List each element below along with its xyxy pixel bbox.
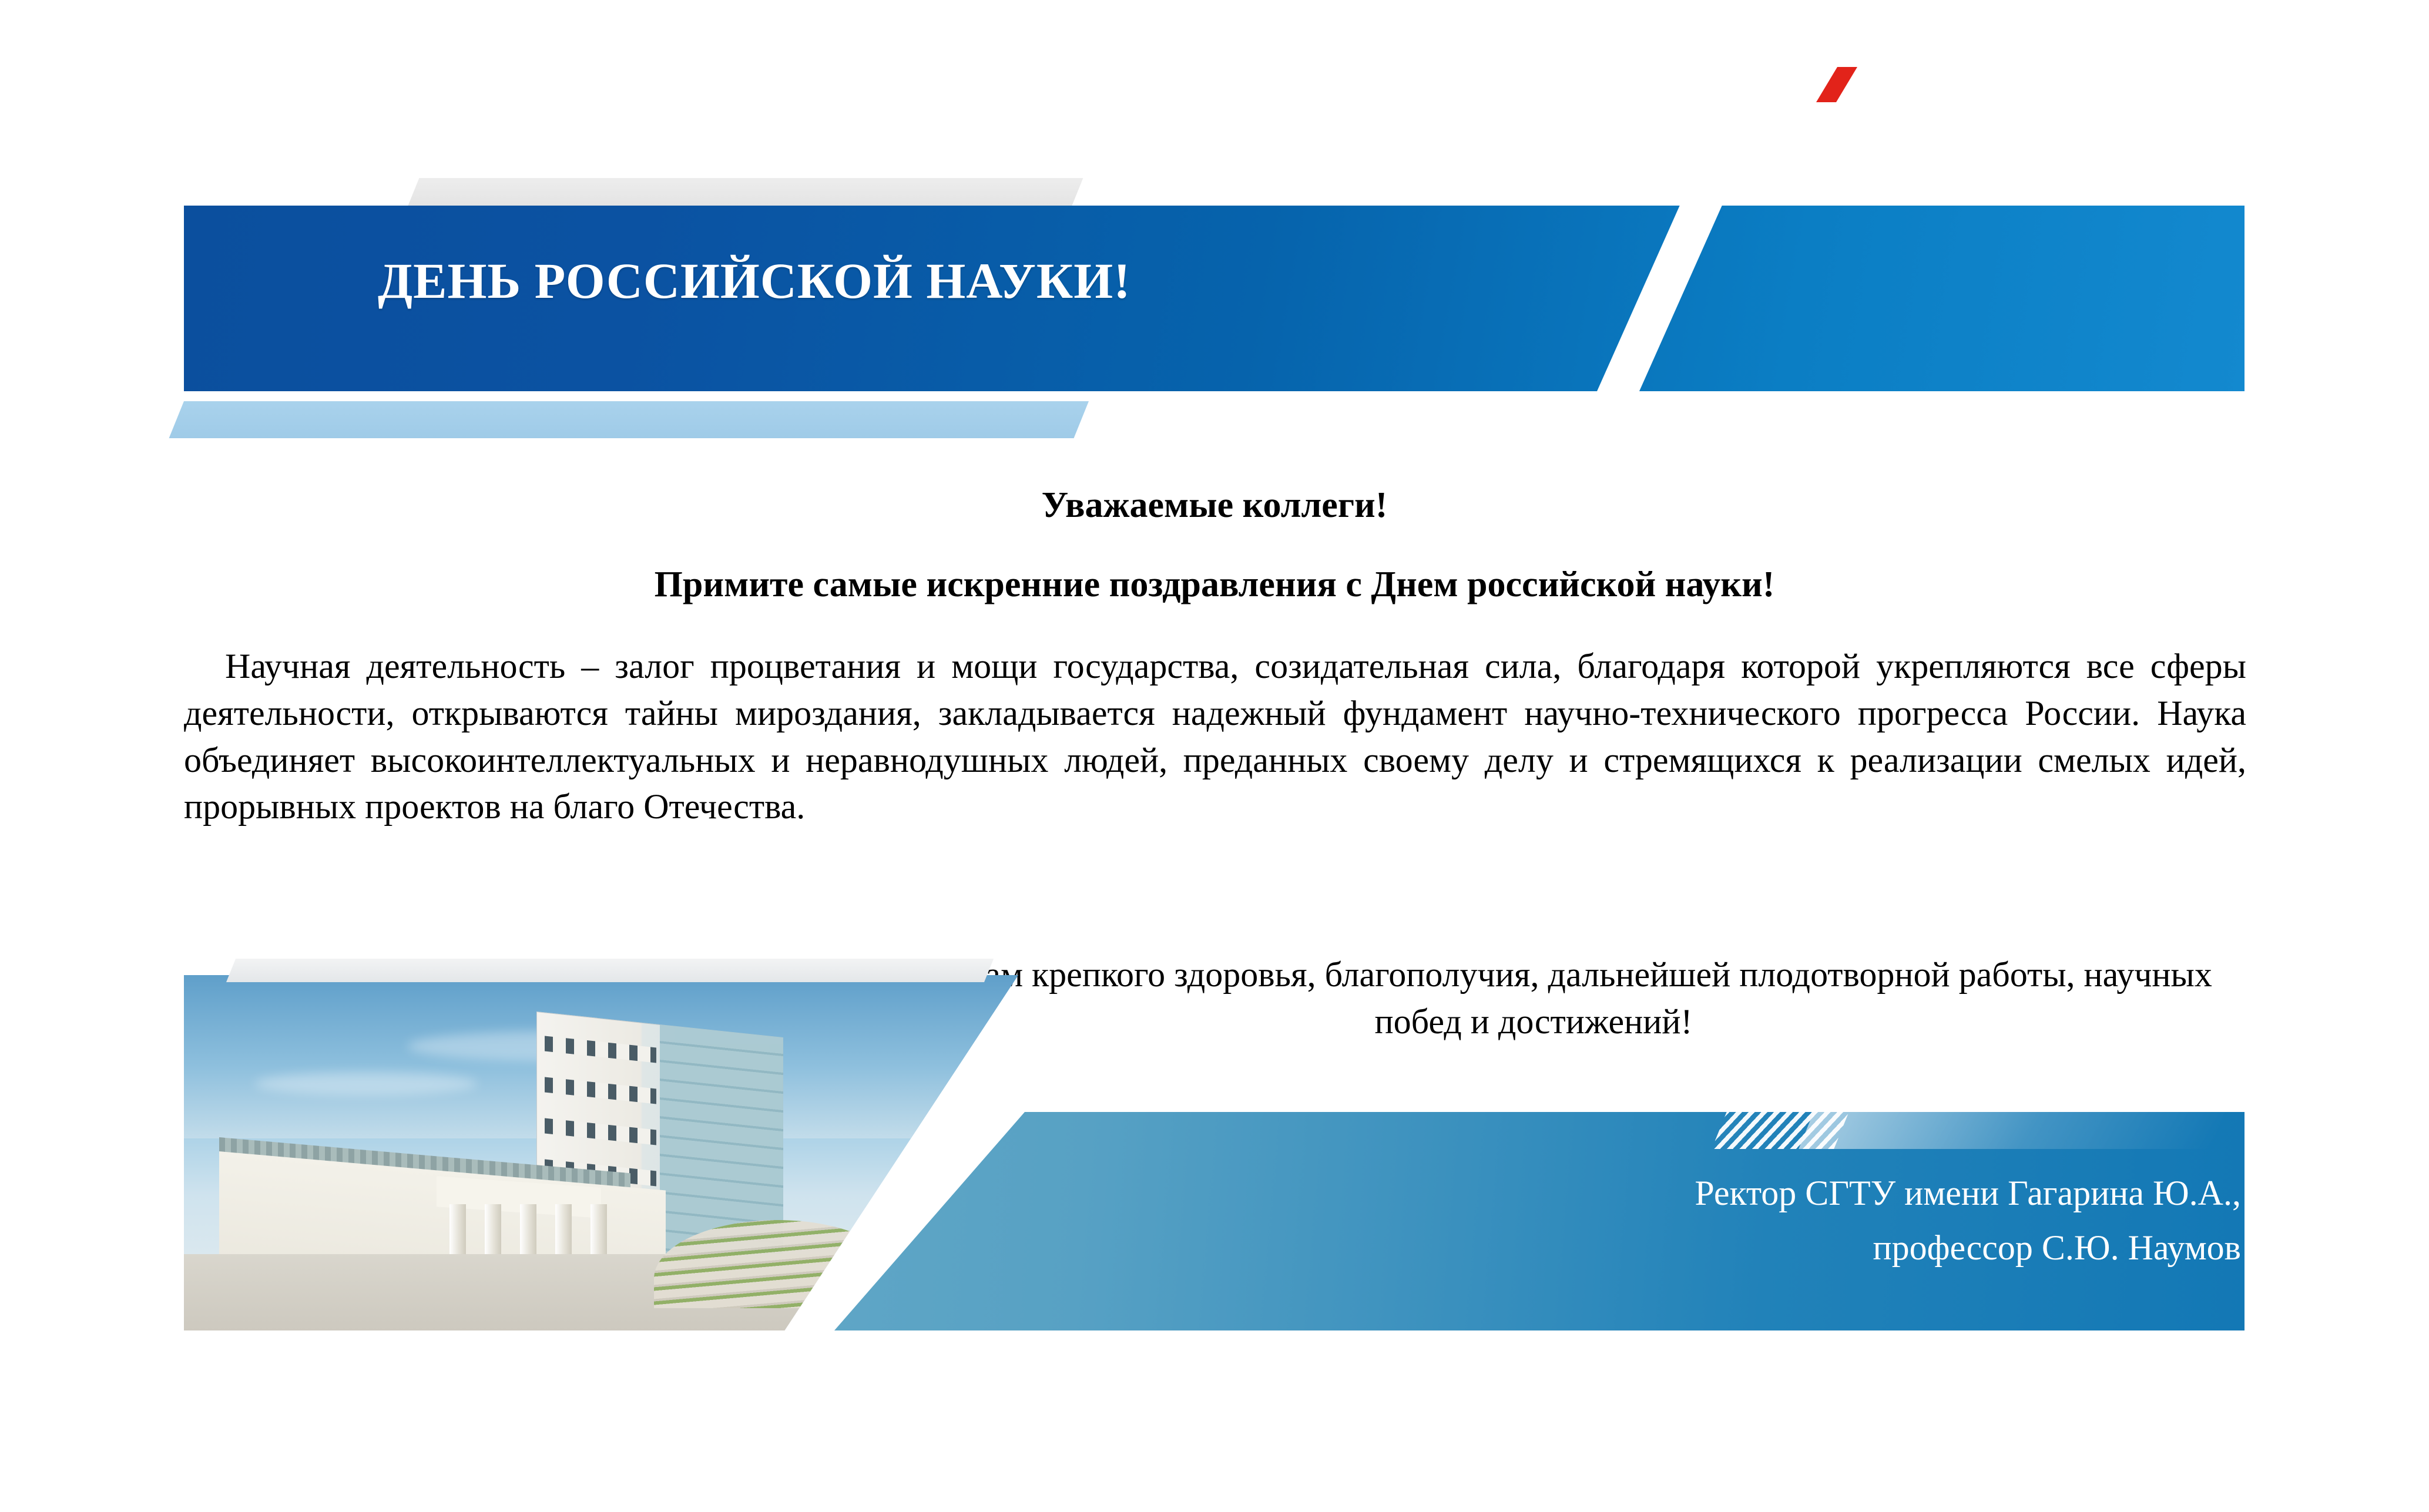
photo-window-row (545, 1077, 656, 1104)
photo-cloud (254, 1072, 478, 1096)
content-area: Уважаемые коллеги! Примите самые искренн… (0, 0, 2429, 1512)
main-paragraph: Научная деятельность – залог процветания… (184, 643, 2246, 831)
greeting-line: Уважаемые коллеги! (0, 485, 2429, 526)
banner-gradient-stripe (1799, 1093, 2233, 1149)
congratulation-line: Примите самые искренние поздравления с Д… (0, 564, 2429, 606)
signature-block: Ректор СГТУ имени Гагарина Ю.А., професс… (948, 1166, 2241, 1275)
signature-line-1: Ректор СГТУ имени Гагарина Ю.А., (948, 1166, 2241, 1221)
photo-gray-parallelogram (226, 959, 994, 982)
wish-paragraph: Желаю вам крепкого здоровья, благополучи… (817, 952, 2250, 1046)
photo-window-row (545, 1036, 656, 1063)
signature-line-2: профессор С.Ю. Наумов (948, 1221, 2241, 1275)
banner-hatch-decoration (1712, 1093, 1857, 1149)
photo-window-row (545, 1118, 656, 1145)
